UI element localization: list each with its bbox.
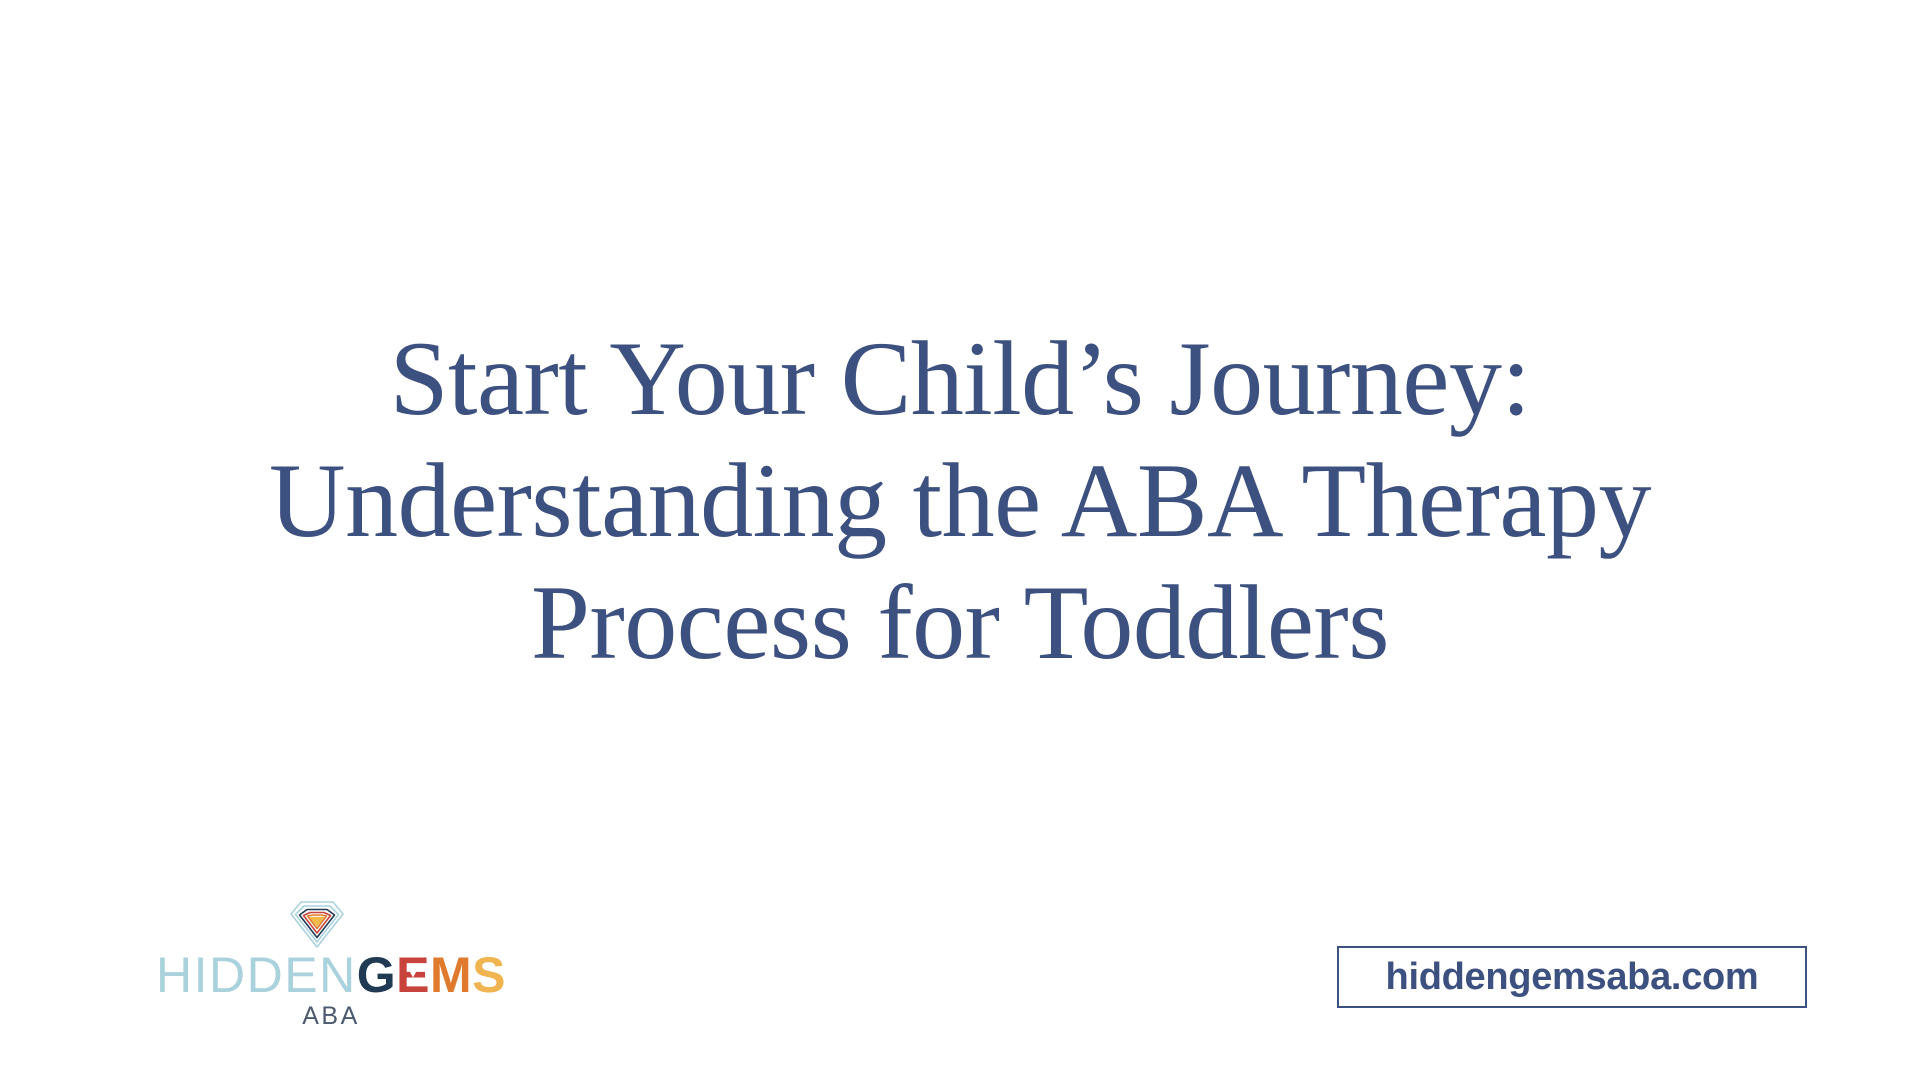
- brand-logo: HIDDEN G E M S ABA: [176, 898, 486, 1030]
- website-url-text: hiddengemsaba.com: [1386, 956, 1759, 999]
- slide-canvas: Start Your Child’s Journey: Understandin…: [0, 0, 1920, 1080]
- gem-icon: [288, 898, 346, 950]
- website-url-badge[interactable]: hiddengemsaba.com: [1337, 946, 1807, 1008]
- logo-letter-s: S: [472, 950, 506, 1000]
- logo-word-gems: G E M S: [357, 950, 506, 1000]
- title-line-1: Start Your Child’s Journey:: [180, 318, 1740, 440]
- logo-word-hidden: HIDDEN: [156, 950, 357, 1000]
- logo-wordmark: HIDDEN G E M S: [176, 950, 486, 1000]
- title-line-2: Understanding the ABA Therapy: [180, 440, 1740, 562]
- logo-letter-m: M: [430, 950, 472, 1000]
- title-line-3: Process for Toddlers: [180, 562, 1740, 684]
- logo-subtitle: ABA: [176, 1002, 486, 1031]
- page-title: Start Your Child’s Journey: Understandin…: [180, 318, 1740, 684]
- logo-letter-e: E: [396, 950, 430, 1000]
- logo-letter-g: G: [357, 950, 396, 1000]
